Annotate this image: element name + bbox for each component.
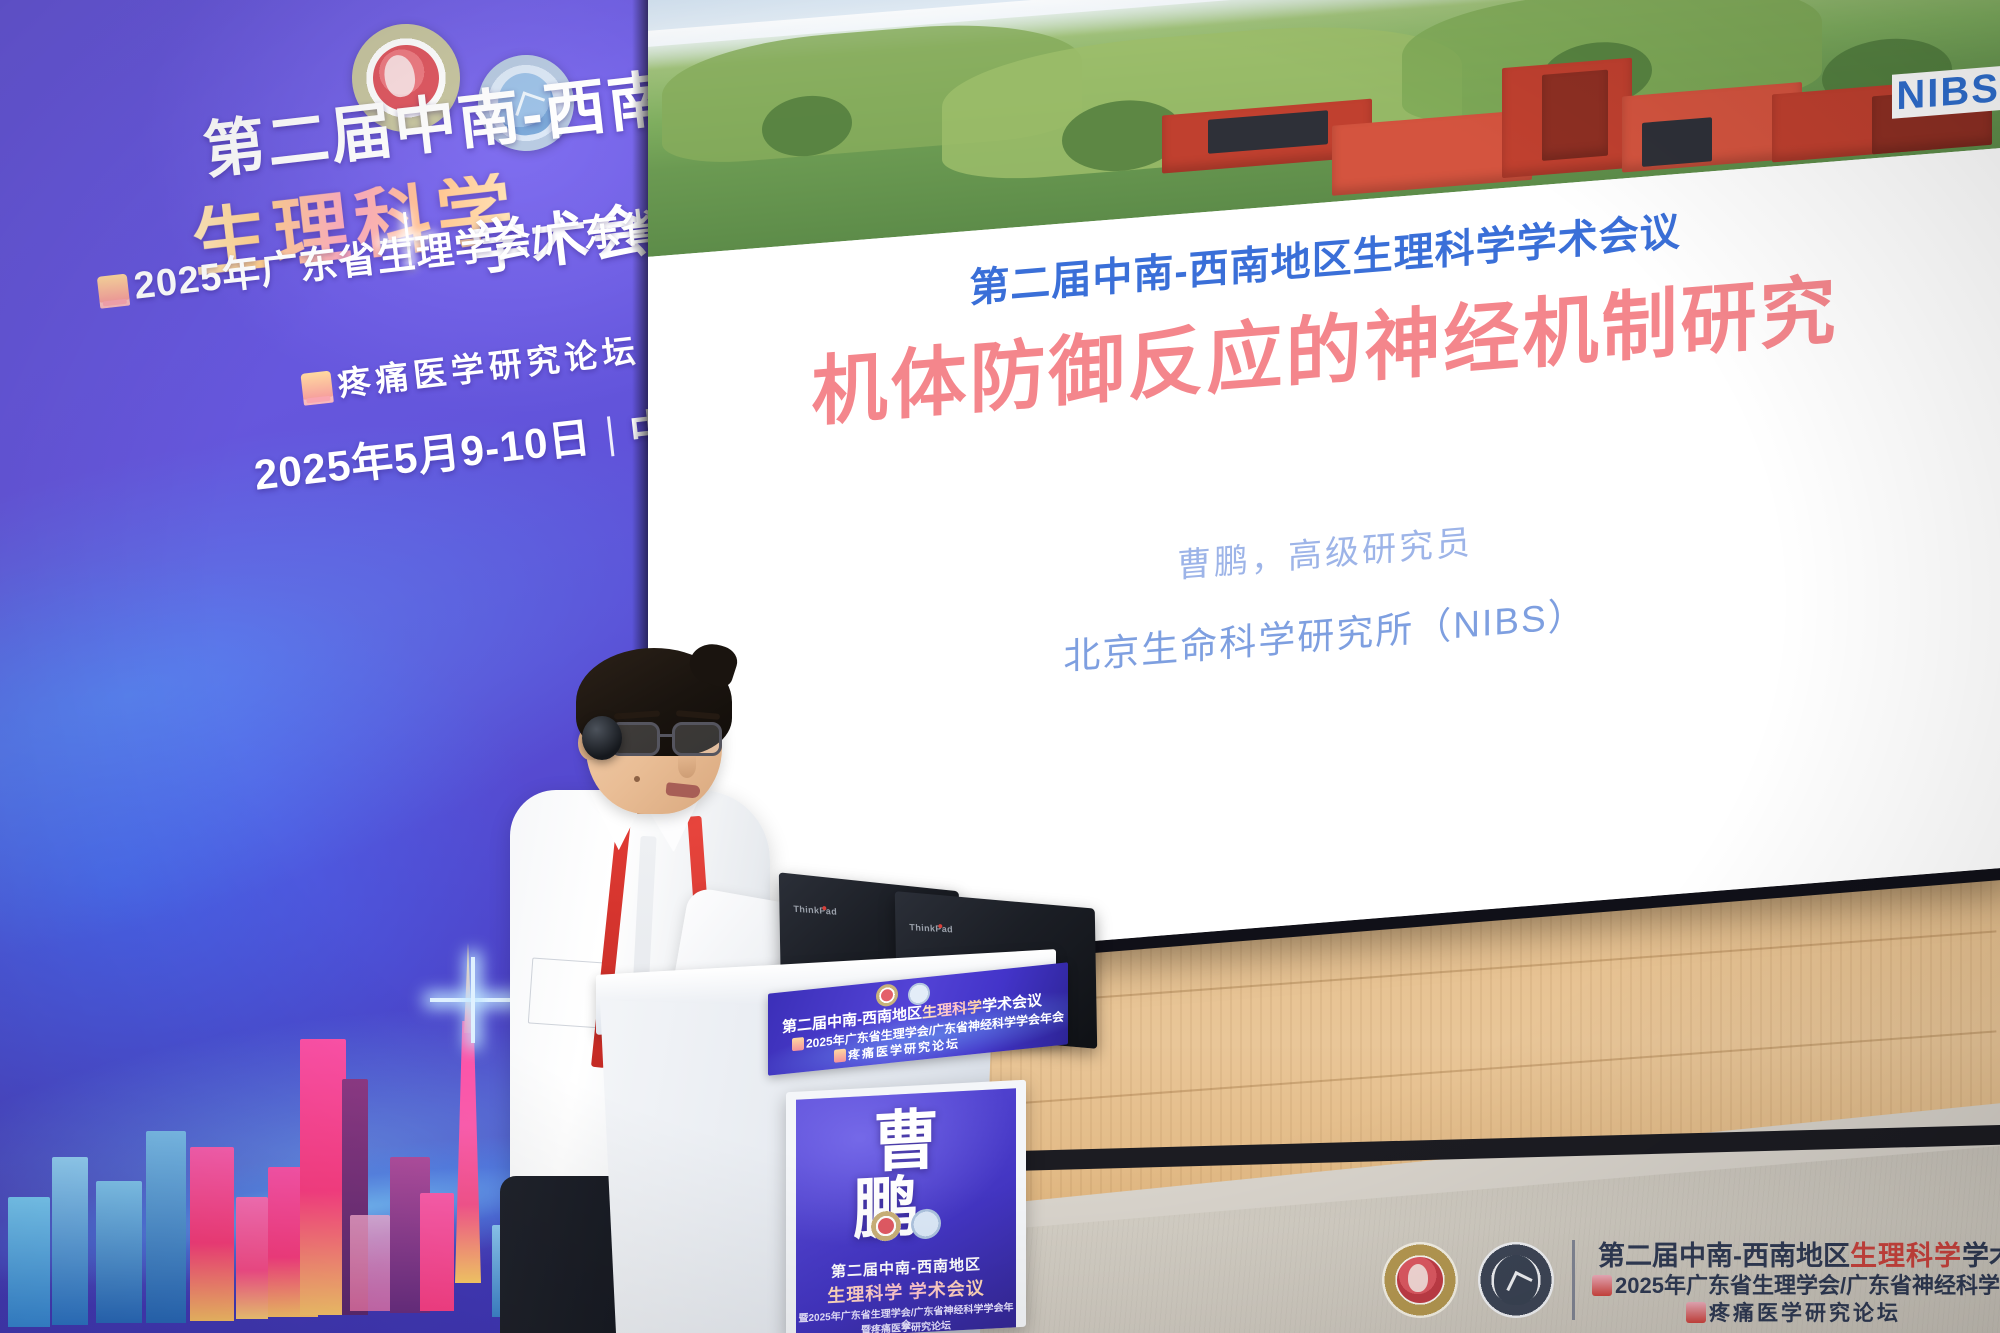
- nameplate-logo-neuroscience: [911, 1208, 941, 1240]
- thinkpad-logo: ThinkPad: [793, 905, 837, 917]
- ji-seal-icon-podium-2: [834, 1049, 846, 1063]
- watermark-logo-society: [1382, 1242, 1458, 1318]
- podium-logo-neuroscience: [908, 982, 930, 1006]
- watermark-line1: 第二届中南-西南地区生理科学学术会议: [1598, 1242, 1998, 1272]
- ji-seal-icon-watermark-2: [1686, 1302, 1706, 1323]
- watermark-line3: 疼痛医学研究论坛: [1686, 1302, 2000, 1325]
- conference-photo-scene: NIBS 第二届中南-西南地区生理科学学术会议 机体防御反应的神经机制研究 曹鹏…: [0, 0, 2000, 1333]
- ji-seal-icon: [97, 274, 130, 309]
- microphone-head: [582, 716, 622, 760]
- podium-nameplate-frame: 曹鹏 第二届中南-西南地区 生理科学 学术会议 暨2025年广东省生理学会/广东…: [786, 1080, 1026, 1333]
- podium-nameplate: 曹鹏 第二届中南-西南地区 生理科学 学术会议 暨2025年广东省生理学会/广东…: [796, 1088, 1016, 1333]
- nameplate-logo-society: [871, 1210, 901, 1242]
- eyeglasses-icon: [610, 722, 728, 758]
- canton-tower: [455, 1021, 481, 1283]
- ji-seal-icon-2: [300, 371, 333, 406]
- thinkpad-logo-2: ThinkPad: [909, 923, 953, 934]
- watermark-logo-neuroscience: [1478, 1242, 1554, 1318]
- divider: [607, 416, 615, 456]
- watermark-divider: [1572, 1240, 1575, 1320]
- watermark-overlay: 第二届中南-西南地区生理科学学术会议 2025年广东省生理学会/广东省神经科学学…: [1356, 1228, 2000, 1333]
- ji-seal-icon-watermark: [1592, 1275, 1612, 1296]
- ji-seal-icon-podium: [792, 1037, 804, 1051]
- nibs-logo: NIBS: [1892, 66, 2000, 119]
- podium-logo-society: [876, 983, 898, 1007]
- watermark-line2: 2025年广东省生理学会/广东省神经科学学会年会: [1592, 1274, 2000, 1298]
